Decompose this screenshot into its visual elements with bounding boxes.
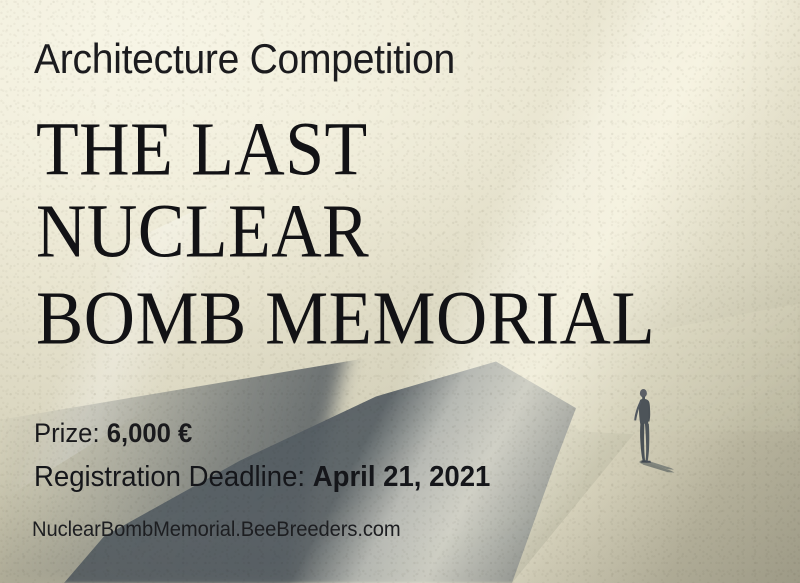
- prize-line: Prize: 6,000 €: [34, 420, 192, 447]
- headline-line-3: BOMB MEMORIAL: [36, 280, 655, 356]
- headline-line-1: THE LAST: [36, 111, 368, 187]
- human-silhouette-icon: [634, 389, 651, 463]
- competition-url[interactable]: NuclearBombMemorial.BeeBreeders.com: [32, 519, 401, 540]
- figure-group: [630, 386, 720, 476]
- competition-poster: Architecture Competition THE LAST NUCLEA…: [0, 0, 800, 583]
- eyebrow-label: Architecture Competition: [34, 38, 455, 80]
- deadline-label: Registration Deadline:: [34, 461, 313, 493]
- figure-cast-shadow-icon: [639, 460, 674, 473]
- prize-label: Prize:: [34, 418, 107, 448]
- headline-line-2: NUCLEAR: [36, 193, 369, 269]
- deadline-line: Registration Deadline: April 21, 2021: [34, 463, 490, 492]
- deadline-date: April 21, 2021: [313, 461, 491, 493]
- prize-amount: 6,000 €: [107, 418, 193, 448]
